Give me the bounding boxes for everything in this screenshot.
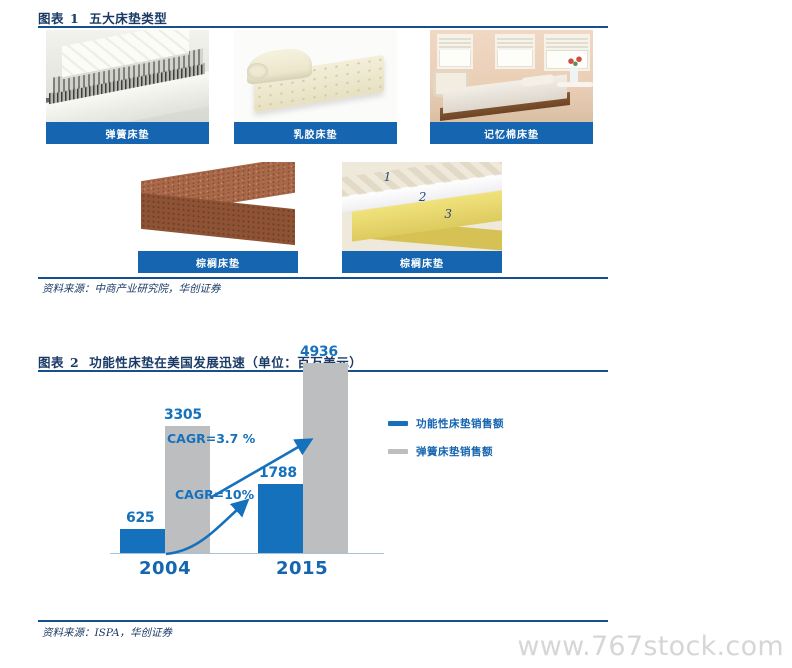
report-page: 图表1五大床垫类型 弹簧床垫 乳胶床垫 记忆棉床垫 棕榈床垫 bbox=[0, 0, 792, 668]
figure2-source: 资料来源：ISPA，华创证券 bbox=[42, 625, 172, 640]
bar-label-2015-spring: 4936 bbox=[300, 344, 338, 360]
rolled-latex-mattress-photo bbox=[234, 30, 397, 122]
chart-legend: 功能性床垫销售额 弹簧床垫销售额 bbox=[388, 416, 504, 472]
legend-swatch-functional-icon bbox=[388, 421, 408, 426]
figure1-tile-1-caption: 弹簧床垫 bbox=[46, 122, 209, 144]
legend-label-functional: 功能性床垫销售额 bbox=[416, 416, 504, 431]
legend-label-spring: 弹簧床垫销售额 bbox=[416, 444, 493, 459]
figure1-tile-4-caption: 棕榈床垫 bbox=[138, 251, 298, 273]
legend-item-spring: 弹簧床垫销售额 bbox=[388, 444, 504, 459]
mattress-sales-bar-chart: 625 3305 1788 4936 2004 2015 CAGR=10% CA… bbox=[38, 374, 608, 612]
figure1-title: 图表1五大床垫类型 bbox=[38, 8, 167, 27]
figure1-tile-5-caption: 棕榈床垫 bbox=[342, 251, 502, 273]
figure1-source-rule bbox=[38, 277, 608, 279]
figure1-tile-2: 乳胶床垫 bbox=[234, 30, 397, 144]
legend-item-functional: 功能性床垫销售额 bbox=[388, 416, 504, 431]
figure1-tile-3: 记忆棉床垫 bbox=[430, 30, 593, 144]
figure1-tile-2-caption: 乳胶床垫 bbox=[234, 122, 397, 144]
spring-mattress-cutaway-photo bbox=[46, 30, 209, 122]
figure1-title-rule bbox=[38, 26, 608, 28]
figure1-tile-5: 1 2 3 棕榈床垫 bbox=[342, 162, 502, 273]
figure1-tile-4: 棕榈床垫 bbox=[138, 162, 298, 273]
figure2-source-rule bbox=[38, 620, 608, 622]
site-watermark: www.767stock.com bbox=[517, 631, 784, 662]
layer-number-3: 3 bbox=[444, 207, 452, 221]
layer-number-2: 2 bbox=[419, 190, 427, 204]
memory-foam-mattress-bedroom-photo bbox=[430, 30, 593, 122]
chart-arrow-layer bbox=[38, 374, 608, 612]
figure2-label: 图表 bbox=[38, 355, 64, 370]
figure1-source: 资料来源：中商产业研究院，华创证券 bbox=[42, 281, 221, 296]
curved-arrow-icon bbox=[166, 509, 238, 554]
figure1-tile-1: 弹簧床垫 bbox=[46, 30, 209, 144]
straight-arrow-icon bbox=[210, 446, 300, 498]
figure1-tile-3-caption: 记忆棉床垫 bbox=[430, 122, 593, 144]
figure1-title-text: 五大床垫类型 bbox=[89, 11, 167, 26]
figure2-number: 2 bbox=[70, 355, 79, 370]
figure1-label: 图表 bbox=[38, 11, 64, 26]
layer-number-1: 1 bbox=[384, 170, 392, 184]
legend-swatch-spring-icon bbox=[388, 449, 408, 454]
layered-mattress-cross-section-photo: 1 2 3 bbox=[342, 162, 502, 251]
figure1-number: 1 bbox=[70, 11, 79, 26]
coir-palm-fiber-slab-photo bbox=[138, 162, 298, 251]
